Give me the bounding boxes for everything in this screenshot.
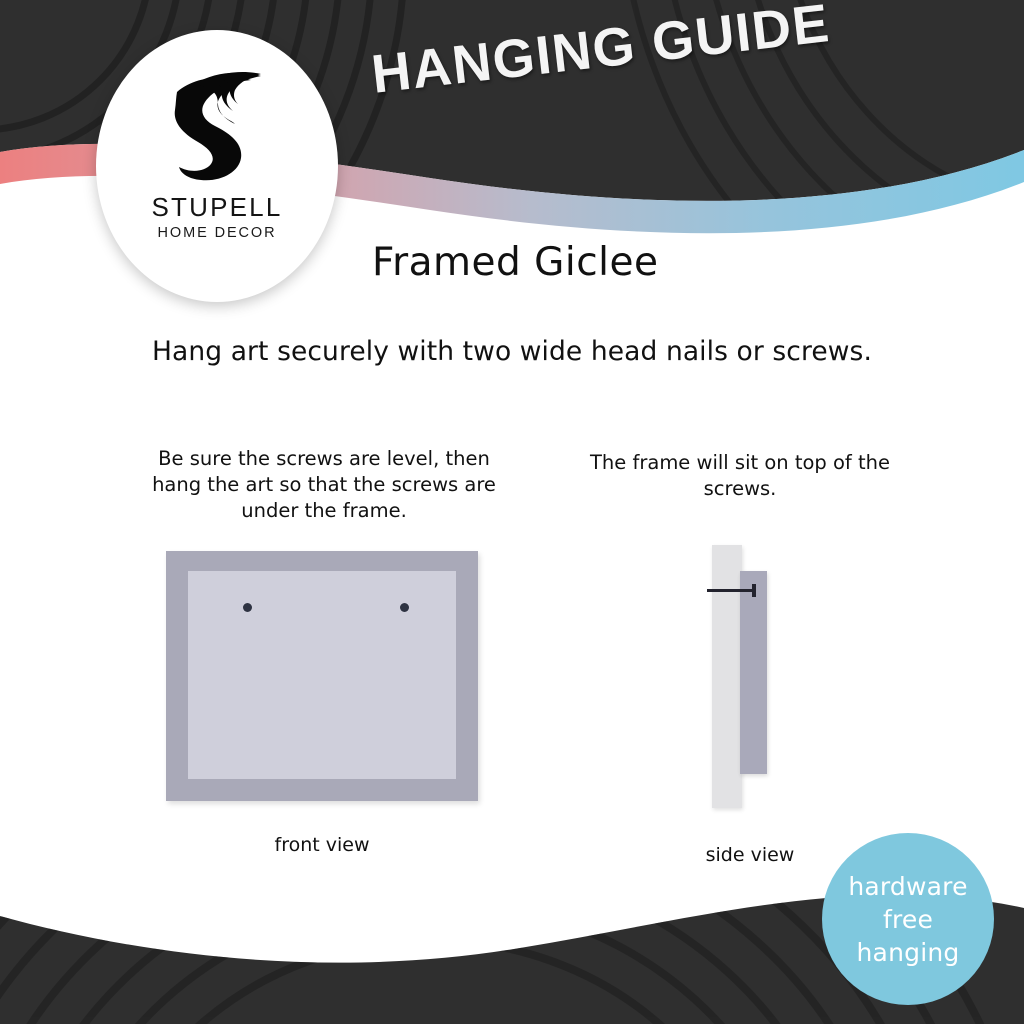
front-view-diagram bbox=[166, 551, 478, 801]
side-view-diagram bbox=[700, 545, 800, 815]
product-type-label: Framed Giclee bbox=[372, 240, 659, 285]
side-view-label: side view bbox=[640, 844, 860, 866]
screw-dot-left bbox=[243, 603, 252, 612]
logo-brand-name: STUPELL bbox=[151, 192, 282, 223]
main-instruction-text: Hang art securely with two wide head nai… bbox=[0, 336, 1024, 367]
front-view-caption: Be sure the screws are level, then hang … bbox=[150, 446, 498, 524]
side-view-caption: The frame will sit on top of the screws. bbox=[590, 450, 890, 502]
side-view-wall bbox=[712, 545, 742, 808]
stupell-swoosh-icon bbox=[165, 66, 269, 184]
hardware-free-hanging-badge: hardware free hanging bbox=[822, 833, 994, 1005]
hardware-badge-text: hardware free hanging bbox=[848, 870, 967, 969]
side-view-frame bbox=[740, 571, 767, 774]
screw-dot-right bbox=[400, 603, 409, 612]
screw-shaft-icon bbox=[707, 589, 754, 592]
hanging-guide-infographic: STUPELL HOME DECOR HANGING GUIDE Framed … bbox=[0, 0, 1024, 1024]
brand-logo-badge: STUPELL HOME DECOR bbox=[96, 30, 338, 302]
badge-line-3: hanging bbox=[848, 936, 967, 969]
badge-line-1: hardware bbox=[848, 870, 967, 903]
screw-head-icon bbox=[752, 584, 756, 597]
front-view-label: front view bbox=[172, 834, 472, 856]
logo-tagline: HOME DECOR bbox=[158, 225, 277, 241]
page-title: HANGING GUIDE bbox=[368, 0, 892, 106]
badge-line-2: free bbox=[848, 903, 967, 936]
front-view-mat bbox=[188, 571, 456, 779]
